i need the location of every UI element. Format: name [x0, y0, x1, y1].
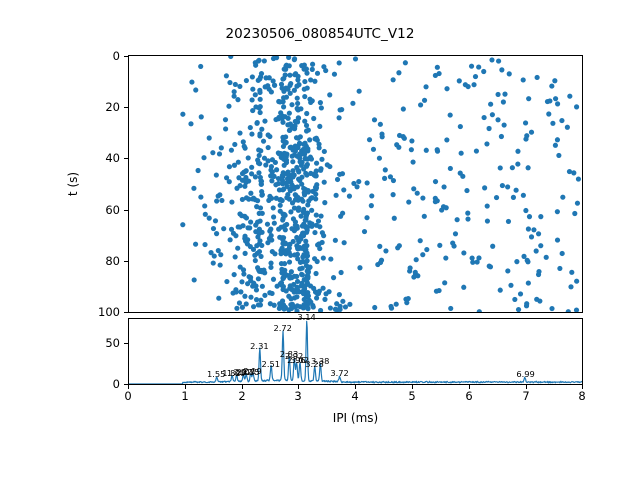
scatter-ytick-mark-80 [124, 261, 128, 262]
histogram-axes [128, 318, 583, 385]
peak-label-3-72: 3.72 [330, 369, 348, 377]
hist-ytick-50: 50 [90, 336, 120, 350]
hist-xtick-6: 6 [465, 389, 472, 403]
peak-label-3-14: 3.14 [297, 313, 315, 321]
y-axis-label: t (s) [66, 172, 80, 196]
hist-xtick-mark-4 [355, 385, 356, 389]
scatter-ytick-80: 80 [96, 254, 120, 268]
hist-xtick-7: 7 [522, 389, 529, 403]
hist-xtick-3: 3 [294, 389, 301, 403]
hist-xtick-8: 8 [578, 389, 585, 403]
scatter-ytick-100: 100 [89, 305, 120, 319]
peak-label-2-51: 2.51 [262, 360, 280, 368]
scatter-ytick-60: 60 [96, 203, 120, 217]
hist-ytick-mark-0 [124, 384, 128, 385]
scatter-ytick-mark-20 [124, 107, 128, 108]
matplotlib-figure: 20230506_080854UTC_V12 0 20 40 60 80 100… [0, 0, 640, 480]
hist-xtick-mark-5 [412, 385, 413, 389]
scatter-ytick-mark-0 [124, 56, 128, 57]
scatter-ytick-mark-60 [124, 210, 128, 211]
hist-xtick-mark-0 [128, 385, 129, 389]
hist-ytick-mark-50 [124, 343, 128, 344]
hist-xtick-mark-3 [298, 385, 299, 389]
histogram-line-layer [129, 319, 582, 384]
page-title: 20230506_080854UTC_V12 [0, 26, 640, 42]
hist-xtick-1: 1 [181, 389, 188, 403]
hist-xtick-2: 2 [238, 389, 245, 403]
scatter-ytick-20: 20 [96, 100, 120, 114]
hist-xtick-5: 5 [408, 389, 415, 403]
histogram-curve [129, 321, 582, 384]
hist-xtick-mark-2 [242, 385, 243, 389]
scatter-ytick-mark-40 [124, 158, 128, 159]
peak-label-6-99: 6.99 [516, 370, 534, 378]
peak-label-3-38: 3.38 [311, 357, 329, 365]
peak-label-2-19: 2.19 [243, 367, 261, 375]
hist-xtick-4: 4 [351, 389, 358, 403]
hist-xtick-mark-7 [526, 385, 527, 389]
scatter-points-layer [129, 56, 582, 312]
scatter-ytick-0: 0 [96, 49, 120, 63]
peak-label-2-72: 2.72 [273, 324, 291, 332]
peak-label-2-31: 2.31 [250, 342, 268, 350]
x-axis-label: IPI (ms) [128, 411, 583, 425]
hist-ytick-0: 0 [96, 377, 120, 391]
hist-xtick-0: 0 [124, 389, 131, 403]
hist-xtick-mark-1 [185, 385, 186, 389]
hist-xtick-mark-6 [469, 385, 470, 389]
scatter-ytick-40: 40 [96, 151, 120, 165]
hist-xtick-mark-8 [582, 385, 583, 389]
scatter-plot-axes [128, 55, 583, 313]
scatter-ytick-mark-100 [124, 312, 128, 313]
